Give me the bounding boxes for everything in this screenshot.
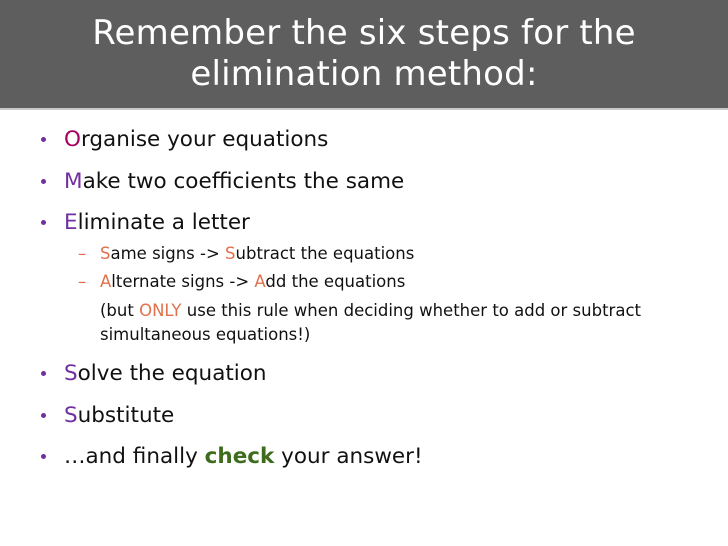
sub-step-initial-b: S bbox=[225, 244, 235, 263]
list-item: Eliminate a letter –Same signs -> Subtra… bbox=[0, 209, 728, 346]
list-item: Make two coefficients the same bbox=[0, 168, 728, 196]
step-rest-after: your answer! bbox=[274, 444, 422, 469]
steps-list-container: Organise your equations Make two coeffic… bbox=[0, 112, 728, 546]
step-rest: olve the equation bbox=[78, 361, 267, 386]
note-prefix: (but bbox=[100, 301, 139, 320]
step-rest: ubstitute bbox=[78, 403, 175, 428]
sub-step-text-b: ubtract the equations bbox=[236, 244, 415, 263]
dash-marker-icon: – bbox=[78, 243, 86, 264]
sub-step-initial-b: A bbox=[254, 272, 265, 291]
list-item: Substitute bbox=[0, 402, 728, 430]
step-text: Organise your equations bbox=[64, 127, 328, 152]
sub-step-initial-a: S bbox=[100, 244, 110, 263]
bullet-dot-icon bbox=[41, 137, 46, 142]
step-rest: liminate a letter bbox=[78, 210, 250, 235]
slide: Remember the six steps for the eliminati… bbox=[0, 0, 728, 546]
sub-step-text-a: ame signs -> bbox=[110, 244, 225, 263]
sub-step-text-a: lternate signs -> bbox=[111, 272, 254, 291]
step-rest: rganise your equations bbox=[81, 127, 328, 152]
list-item: Solve the equation bbox=[0, 360, 728, 388]
list-item: …and finally check your answer! bbox=[0, 443, 728, 471]
step-rest: …and finally bbox=[64, 444, 205, 469]
step-text: Solve the equation bbox=[64, 361, 267, 386]
list-item: Organise your equations bbox=[0, 126, 728, 154]
sub-step-text-b: dd the equations bbox=[265, 272, 405, 291]
step-initial: S bbox=[64, 403, 78, 428]
sub-step-initial-a: A bbox=[100, 272, 111, 291]
bullet-dot-icon bbox=[41, 179, 46, 184]
step-text: Eliminate a letter bbox=[64, 210, 250, 235]
dash-marker-icon: – bbox=[78, 271, 86, 292]
bullet-dot-icon bbox=[41, 371, 46, 376]
step-rest: ake two coefficients the same bbox=[83, 169, 405, 194]
title-banner: Remember the six steps for the eliminati… bbox=[0, 0, 728, 110]
note-emphasis: ONLY bbox=[139, 301, 181, 320]
sub-list-item: –Same signs -> Subtract the equations bbox=[64, 243, 728, 264]
step-emphasis: check bbox=[205, 444, 275, 469]
bullet-dot-icon bbox=[41, 220, 46, 225]
step-initial: S bbox=[64, 361, 78, 386]
step-initial: O bbox=[64, 127, 81, 152]
sub-steps-list: –Same signs -> Subtract the equations –A… bbox=[64, 243, 728, 293]
step-text: …and finally check your answer! bbox=[64, 444, 423, 469]
steps-list: Organise your equations Make two coeffic… bbox=[0, 126, 728, 471]
sub-list-item: –Alternate signs -> Add the equations bbox=[64, 271, 728, 292]
bullet-dot-icon bbox=[41, 454, 46, 459]
step-initial: M bbox=[64, 169, 83, 194]
bullet-dot-icon bbox=[41, 413, 46, 418]
note-suffix: use this rule when deciding whether to a… bbox=[100, 301, 641, 343]
step-initial: E bbox=[64, 210, 78, 235]
page-title: Remember the six steps for the eliminati… bbox=[0, 13, 728, 96]
step-text: Make two coefficients the same bbox=[64, 169, 404, 194]
note-text: (but ONLY use this rule when deciding wh… bbox=[64, 299, 660, 346]
step-text: Substitute bbox=[64, 403, 174, 428]
